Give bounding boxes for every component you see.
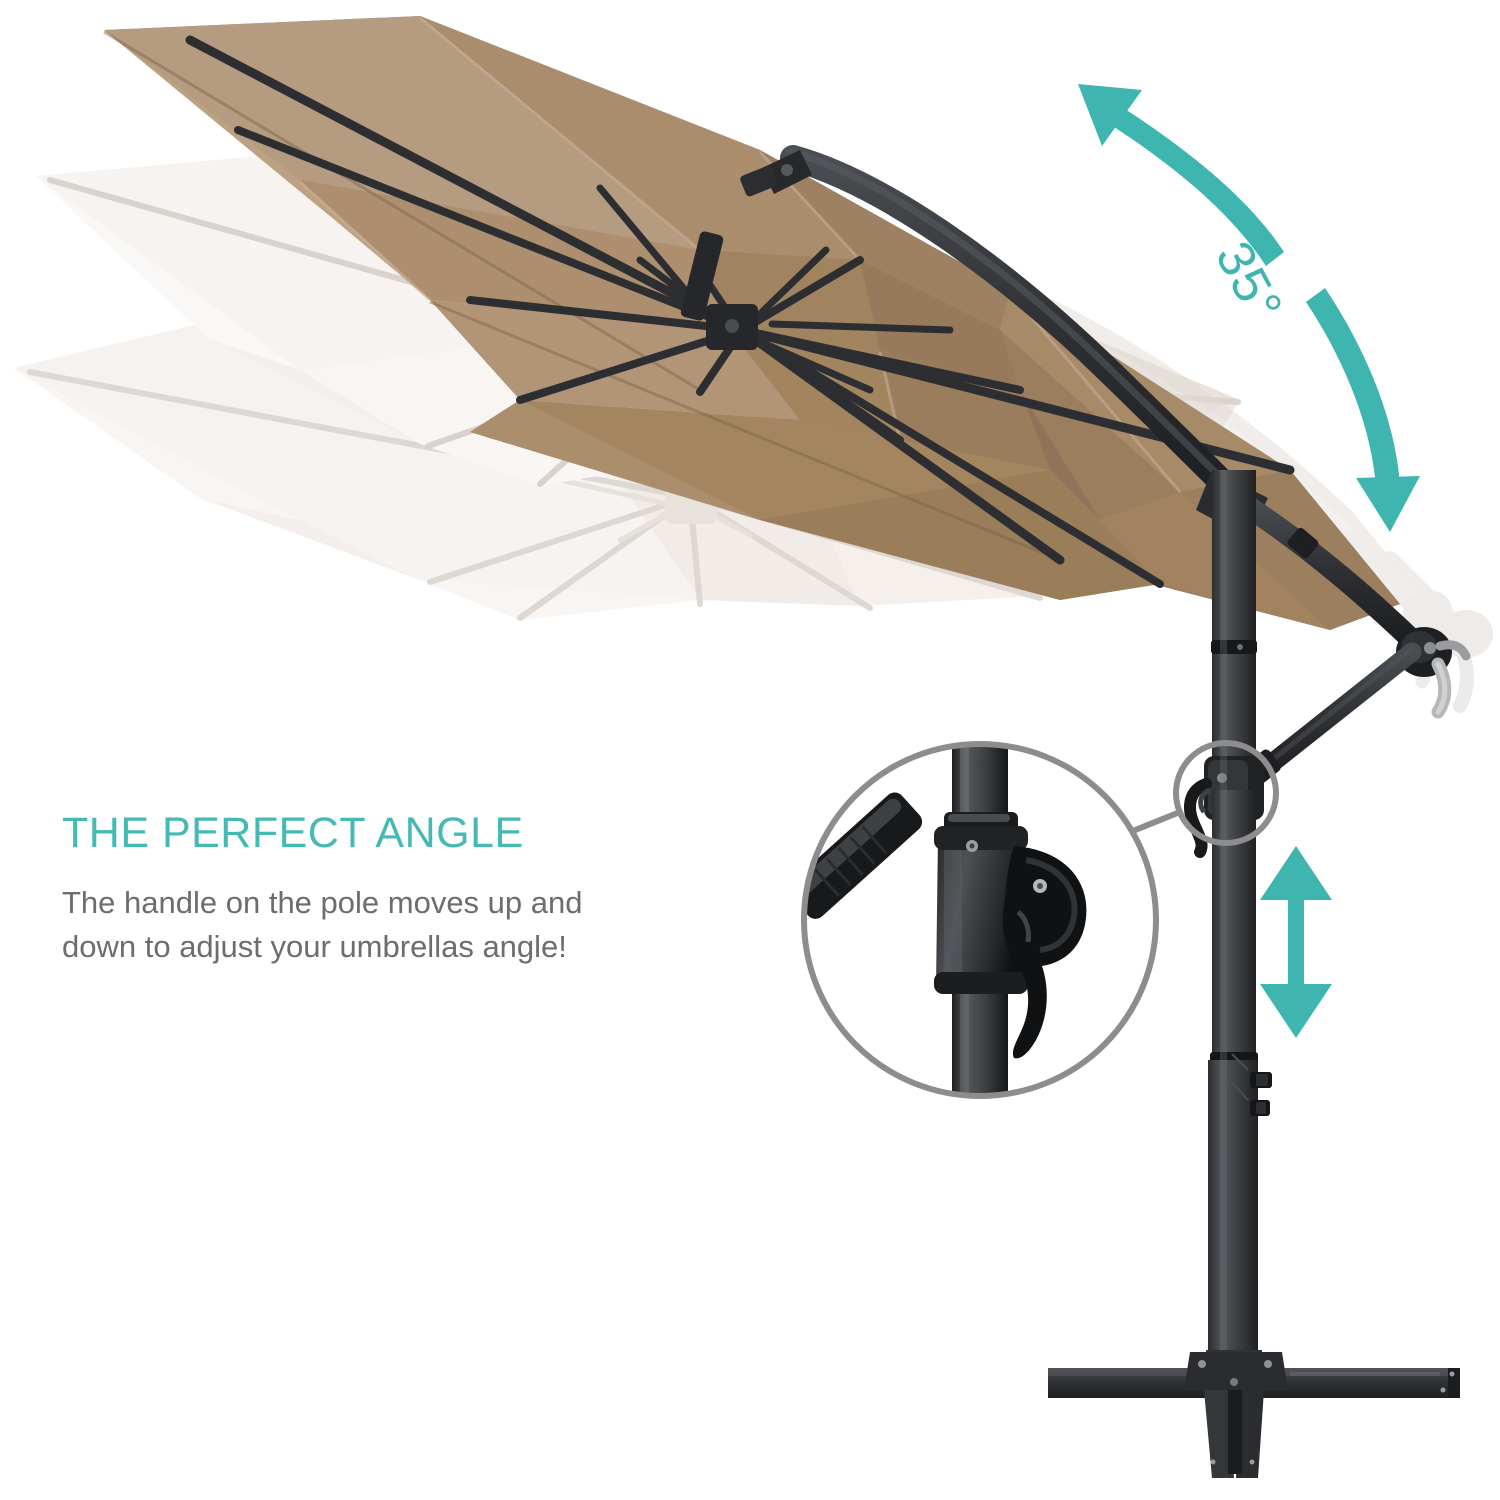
copy-block: THE PERFECT ANGLE The handle on the pole…	[62, 812, 682, 969]
umbrella-illustration	[0, 0, 1500, 1500]
description-text: The handle on the pole moves up and down…	[62, 881, 662, 969]
page-title: THE PERFECT ANGLE	[62, 812, 682, 855]
height-adjust-arrow	[1260, 846, 1332, 1038]
magnified-clamp-detail	[784, 740, 1156, 1102]
cross-base	[1048, 1350, 1460, 1478]
product-marketing-image: 35° THE PERFECT ANGLE The handle on the …	[0, 0, 1500, 1500]
